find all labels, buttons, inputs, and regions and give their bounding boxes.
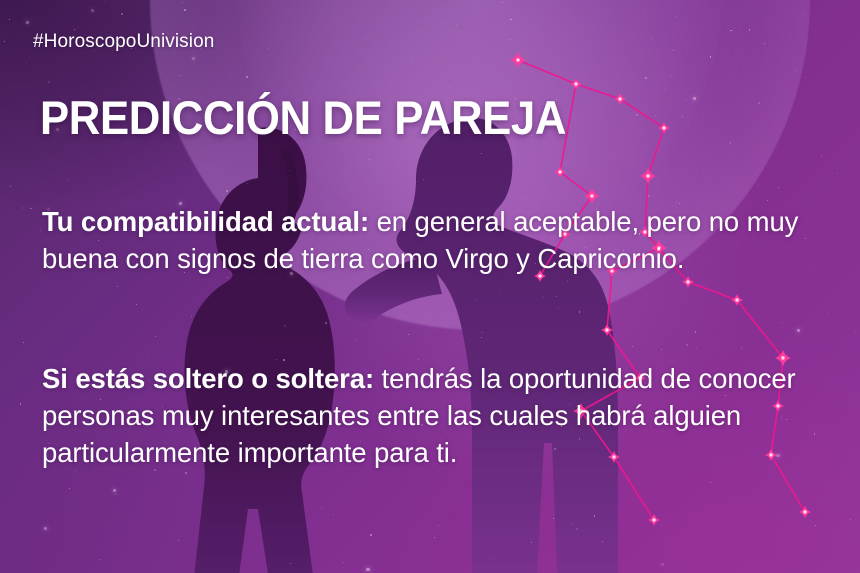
paragraph-lead-compatibilidad: Tu compatibilidad actual: bbox=[42, 206, 369, 237]
constellation-line bbox=[737, 300, 783, 358]
constellation-star-node bbox=[799, 506, 811, 518]
constellation-line bbox=[607, 271, 612, 330]
constellation-star-node bbox=[658, 122, 670, 134]
page-title: PREDICCIÓN DE PAREJA bbox=[40, 92, 566, 144]
constellation-star-node bbox=[584, 188, 600, 204]
constellation-star-node bbox=[570, 78, 582, 90]
constellation-line bbox=[576, 84, 620, 99]
paragraph-soltero: Si estás soltero o soltera: tendrás la o… bbox=[42, 360, 842, 471]
constellation-star-node bbox=[554, 166, 566, 178]
constellation-star-node bbox=[601, 324, 613, 336]
constellation-star-node bbox=[510, 52, 526, 68]
constellation-star-node bbox=[648, 514, 660, 526]
constellation-line bbox=[620, 99, 664, 128]
constellation-line bbox=[688, 282, 737, 300]
constellation-virgo bbox=[0, 0, 860, 573]
constellation-star-node bbox=[640, 168, 656, 184]
constellation-line bbox=[518, 60, 576, 84]
constellation-star-node bbox=[614, 93, 626, 105]
paragraph-compatibilidad: Tu compatibilidad actual: en general ace… bbox=[42, 203, 842, 277]
hashtag-label: #HoroscopoUnivision bbox=[33, 31, 214, 53]
constellation-line bbox=[648, 128, 664, 176]
paragraph-lead-soltero: Si estás soltero o soltera: bbox=[42, 363, 374, 394]
constellation-line bbox=[560, 172, 592, 196]
horoscope-card: #HoroscopoUnivision PREDICCIÓN DE PAREJA… bbox=[0, 0, 860, 573]
